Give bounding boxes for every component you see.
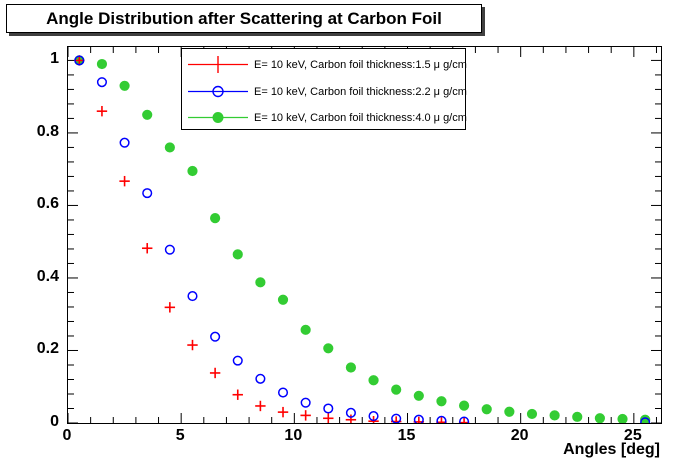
- y-tick-label: 0.8: [0, 123, 59, 141]
- x-tick-label: 10: [284, 427, 302, 445]
- chart-canvas: Angle Distribution after Scattering at C…: [0, 0, 696, 472]
- y-tick-label: 0.4: [0, 268, 59, 286]
- legend-marker-open-circle: [182, 78, 254, 105]
- y-tick-label: 0.2: [0, 340, 59, 358]
- legend-item-1[interactable]: E= 10 keV, Carbon foil thickness:2.2 μ g…: [182, 78, 465, 105]
- page-title: Angle Distribution after Scattering at C…: [7, 5, 481, 32]
- legend-marker-filled-circle: [182, 104, 254, 131]
- y-tick-label: 1: [0, 50, 59, 68]
- x-axis-title: Angles [deg]: [563, 441, 660, 459]
- y-tick-label: 0: [0, 413, 59, 431]
- y-tick-label: 0.6: [0, 195, 59, 213]
- x-tick-label: 0: [63, 427, 72, 445]
- x-tick-label: 15: [398, 427, 416, 445]
- legend-label-2: E= 10 keV, Carbon foil thickness:4.0 μ g…: [254, 112, 467, 124]
- legend-item-2[interactable]: E= 10 keV, Carbon foil thickness:4.0 μ g…: [182, 104, 465, 131]
- legend-marker-cross: [182, 51, 254, 78]
- x-tick-label: 20: [511, 427, 529, 445]
- x-tick-label: 5: [176, 427, 185, 445]
- legend-label-0: E= 10 keV, Carbon foil thickness:1.5 μ g…: [254, 59, 467, 71]
- chart-title-box: Angle Distribution after Scattering at C…: [6, 4, 482, 33]
- legend-item-0[interactable]: E= 10 keV, Carbon foil thickness:1.5 μ g…: [182, 51, 465, 78]
- legend: E= 10 keV, Carbon foil thickness:1.5 μ g…: [181, 48, 466, 130]
- legend-label-1: E= 10 keV, Carbon foil thickness:2.2 μ g…: [254, 86, 467, 98]
